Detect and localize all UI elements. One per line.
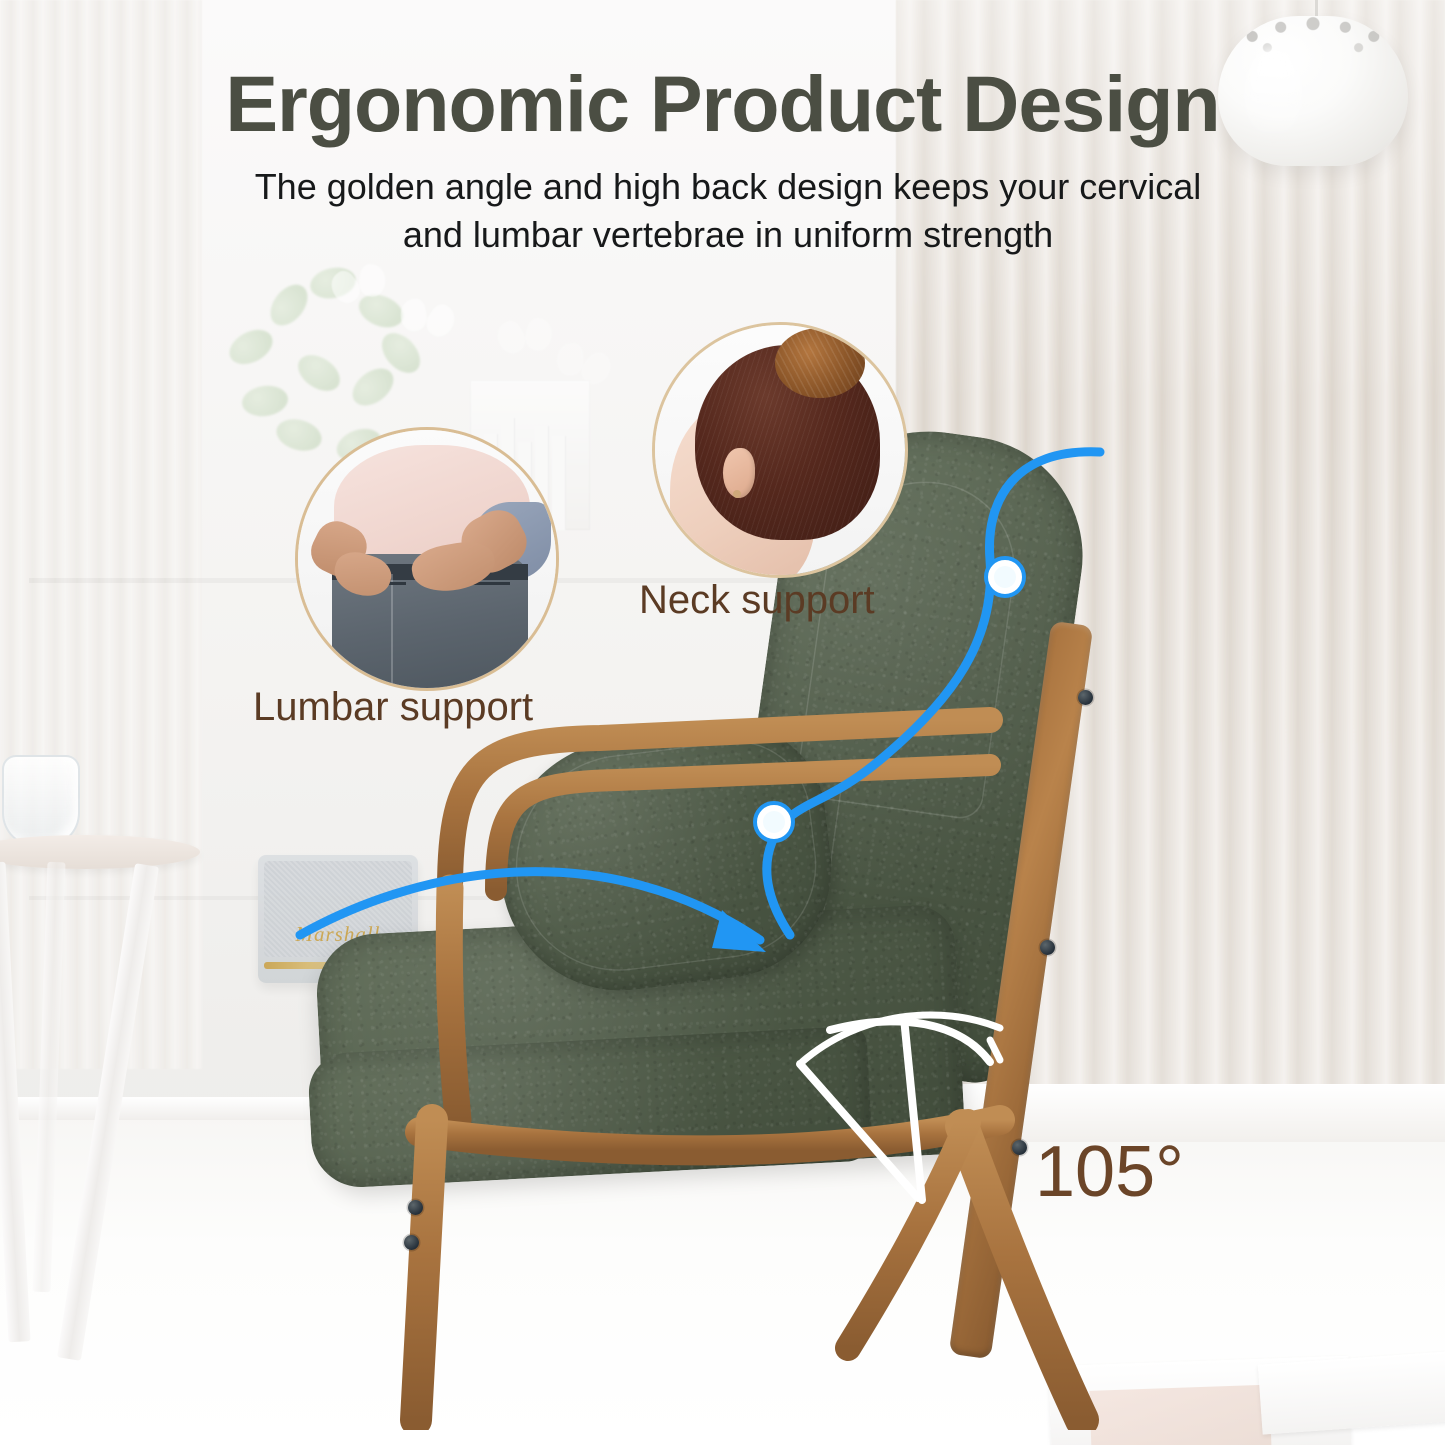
inset-hair-bun [775,328,865,398]
subtitle-line-1: The golden angle and high back design ke… [112,163,1344,211]
frame-screw [1012,1140,1027,1155]
lumbar-support-label: Lumbar support [253,685,533,730]
frame-screw [1078,690,1093,705]
magazine [1258,1349,1445,1434]
frame-screw [404,1235,419,1250]
product-infographic: Marshall [0,0,1445,1445]
curtain [0,0,202,1069]
angle-value-label: 105° [1035,1131,1184,1213]
chair-seat-front [307,1025,873,1189]
frame-screw [1040,940,1055,955]
drinking-glass [2,755,80,847]
butterfly-decal [496,317,553,356]
subtitle-line-2: and lumbar vertebrae in uniform strength [112,211,1344,259]
frame-screw [408,1200,423,1215]
lumbar-support-inset-image [298,430,556,688]
page-title: Ergonomic Product Design [0,58,1445,150]
inset-earring [733,490,741,498]
neck-support-label: Neck support [639,578,875,623]
neck-support-inset-image [655,325,905,575]
page-subtitle: The golden angle and high back design ke… [112,163,1344,259]
